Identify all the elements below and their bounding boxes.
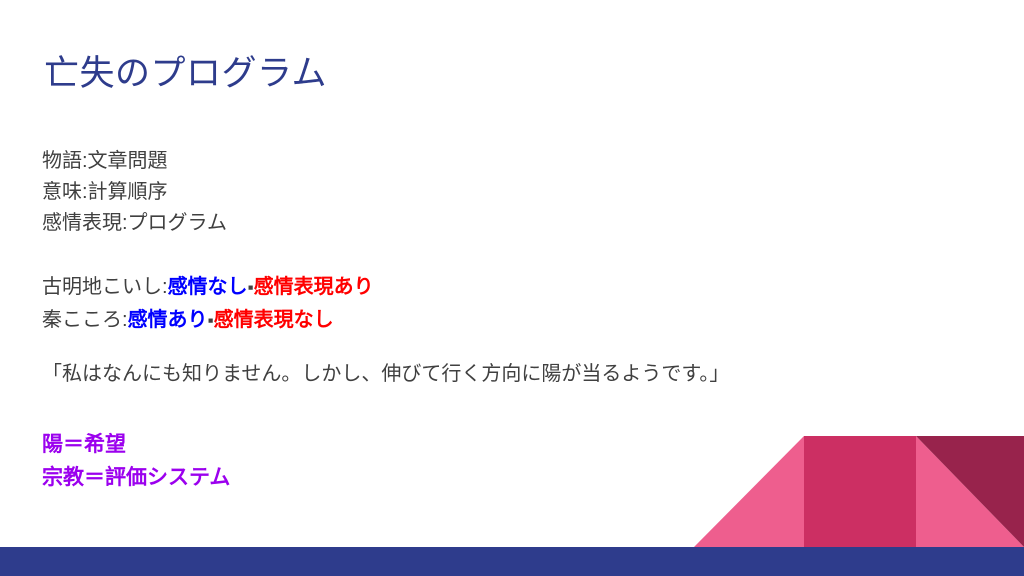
decoration-middle-block xyxy=(804,436,916,547)
character-name-koishi: 古明地こいし: xyxy=(42,276,168,298)
quote-text: 「私はなんにも知りません。しかし、伸びて行く方向に陽が当るようです。」 xyxy=(42,359,729,390)
equation-list: 陽＝希望 宗教＝評価システム xyxy=(42,428,230,494)
character-emotion-koishi: 感情なし xyxy=(168,276,248,298)
equation-line-hope: 陽＝希望 xyxy=(42,428,230,461)
decoration-left-triangle xyxy=(694,436,804,547)
page-title: 亡失のプログラム xyxy=(44,52,327,96)
equation-line-religion: 宗教＝評価システム xyxy=(42,461,230,494)
definition-line-story: 物語:文章問題 xyxy=(42,146,227,177)
triangle-corner-graphic xyxy=(694,420,1024,547)
definition-list: 物語:文章問題 意味:計算順序 感情表現:プログラム xyxy=(42,146,227,239)
character-row-kokoro: 秦こころ:感情あり▪感情表現なし xyxy=(42,304,374,337)
presentation-slide: 亡失のプログラム 物語:文章問題 意味:計算順序 感情表現:プログラム 古明地こ… xyxy=(0,0,1024,576)
definition-line-expression: 感情表現:プログラム xyxy=(42,208,227,239)
character-name-kokoro: 秦こころ: xyxy=(42,309,128,331)
character-row-koishi: 古明地こいし:感情なし▪感情表現あり xyxy=(42,271,374,304)
definition-line-meaning: 意味:計算順序 xyxy=(42,177,227,208)
character-expression-kokoro: 感情表現なし xyxy=(214,309,334,331)
character-trait-list: 古明地こいし:感情なし▪感情表現あり 秦こころ:感情あり▪感情表現なし xyxy=(42,271,374,337)
character-expression-koishi: 感情表現あり xyxy=(254,276,374,298)
character-emotion-kokoro: 感情あり xyxy=(128,309,208,331)
quote-line: 「私はなんにも知りません。しかし、伸びて行く方向に陽が当るようです。」 xyxy=(42,359,729,390)
footer-band xyxy=(0,547,1024,576)
